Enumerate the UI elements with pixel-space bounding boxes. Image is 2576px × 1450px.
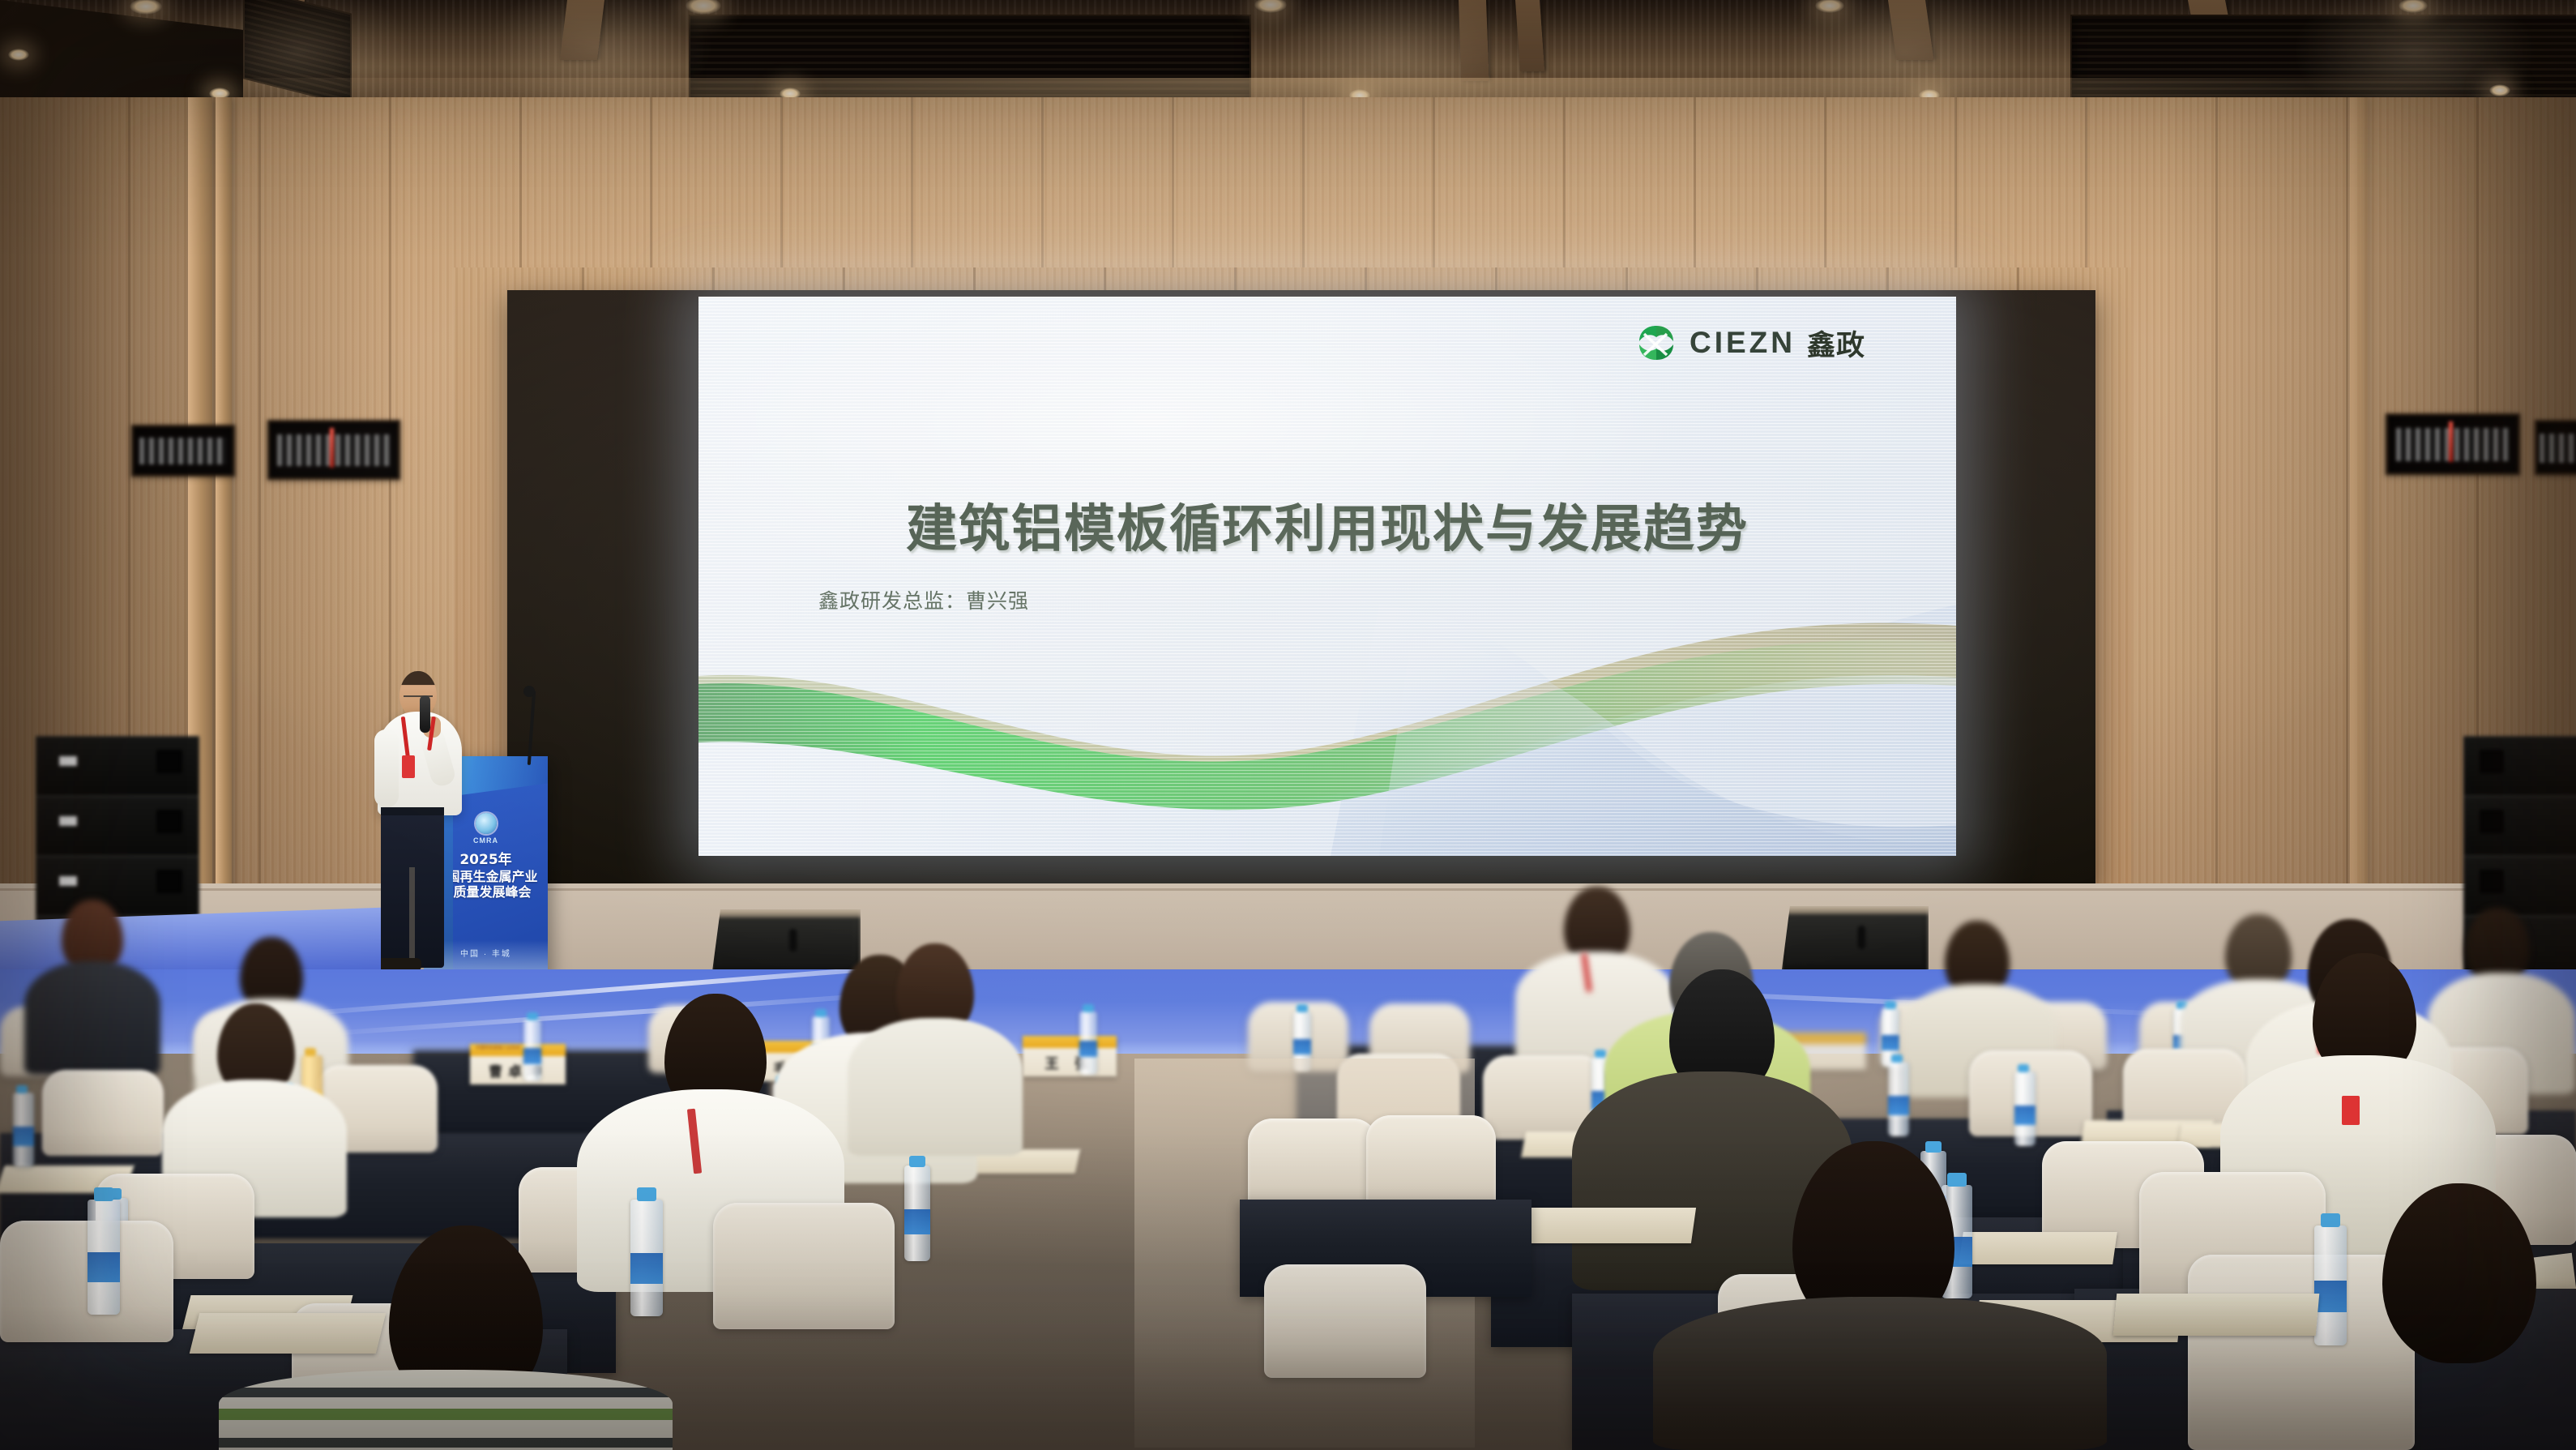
bottle-label: [2014, 1106, 2036, 1125]
audience-torso-foreground-left: [219, 1370, 673, 1450]
presenter-left-arm: [374, 729, 399, 807]
monitor-handle-slot: [789, 929, 797, 952]
line-array-module: [2463, 856, 2576, 916]
bottle-cap: [1297, 1004, 1308, 1012]
speaker-brand-label: [59, 876, 77, 886]
audience-chair: [1366, 1115, 1496, 1211]
name-card-name: 王 强: [1023, 1048, 1117, 1076]
notepad: [190, 1313, 386, 1354]
slide-wave-graphic: [698, 588, 1956, 856]
logo-latin-text: CIEZN: [1690, 326, 1796, 360]
name-card-header-bar: [1023, 1036, 1117, 1048]
line-array-module: [36, 856, 199, 916]
presenter-belt: [381, 807, 444, 815]
ceiling-beam: [1515, 0, 1544, 71]
audience-torso: [24, 961, 160, 1075]
wall-pilaster: [2350, 97, 2368, 965]
slide-brand-logo: CIEZN 鑫政: [1634, 321, 1865, 365]
bottle-cap: [815, 1009, 827, 1017]
podium-microphone-head-icon: [523, 686, 535, 697]
speaker-brand-label: [59, 816, 77, 826]
slide-subtitle: 鑫政研发总监：曹兴强: [818, 585, 1029, 614]
bottle-cap: [1595, 1050, 1606, 1058]
bottle-cap: [16, 1085, 28, 1093]
monitor-grille: [1787, 916, 1922, 965]
logo-chinese-text: 鑫政: [1807, 323, 1865, 364]
slide-title: 建筑铝模板循环利用现状与发展趋势: [698, 488, 1956, 562]
niche-red-accent: [330, 428, 334, 468]
bottle-cap: [1885, 1001, 1896, 1009]
audience-chair: [42, 1070, 164, 1156]
speaker-brand-label: [59, 756, 77, 766]
ciezn-logo-mark-icon: [1634, 321, 1678, 365]
speaker-port: [156, 750, 182, 773]
monitor-grille: [717, 919, 854, 967]
water-bottle: [1079, 1012, 1097, 1075]
speaker-port: [2480, 870, 2504, 893]
wall-niche-left-inner: [131, 425, 235, 477]
notepad: [1521, 1208, 1696, 1243]
speaker-port: [156, 810, 182, 833]
water-bottle: [523, 1020, 541, 1081]
speaker-port: [156, 870, 182, 893]
audience-chair: [1248, 1119, 1378, 1213]
water-bottle: [630, 1200, 663, 1316]
presentation-screen: CIEZN 鑫政 建筑铝模板循环利用现状与发展趋势 鑫政研发总监：曹兴强: [698, 297, 1956, 856]
stage-monitor-right: [1781, 906, 1929, 976]
ceiling-downlight: [8, 49, 29, 61]
bottle-label: [1079, 1041, 1097, 1057]
speaker-port: [2480, 810, 2504, 833]
notepad: [1959, 1232, 2117, 1264]
bottle-cap: [637, 1187, 656, 1201]
audience-chair: [0, 1221, 173, 1342]
bottle-label: [13, 1127, 34, 1146]
bottle-cap: [2321, 1213, 2340, 1227]
niche-slats: [139, 438, 226, 465]
bottle-cap: [1083, 1004, 1094, 1012]
bottle-label: [904, 1209, 930, 1234]
water-bottle: [13, 1093, 34, 1167]
notepad: [2113, 1294, 2320, 1336]
conference-hall-photo: CIEZN 鑫政 建筑铝模板循环利用现状与发展趋势 鑫政研发总监：曹兴强 CMR…: [0, 0, 2576, 1450]
audience-badge: [2342, 1096, 2360, 1125]
bottle-label: [1888, 1096, 1909, 1115]
name-card: 中国有色金属工业协会 曹卓坤: [470, 1044, 566, 1084]
name-card-header-bar: 中国有色金属工业协会: [470, 1044, 566, 1056]
wall-niche-right: [2386, 413, 2520, 475]
bottle-cap: [1891, 1054, 1903, 1063]
audience-torso-foreground-right: [1653, 1297, 2107, 1450]
line-array-module: [36, 736, 199, 796]
bottle-cap: [305, 1048, 316, 1056]
bottle-cap: [527, 1012, 538, 1020]
speaker-port: [2480, 750, 2504, 773]
audience-chair: [2188, 1255, 2415, 1450]
ceiling-downlight: [2489, 84, 2510, 96]
water-bottle: [2014, 1071, 2036, 1146]
line-array-module: [2463, 736, 2576, 796]
name-card-name: 曹卓坤: [470, 1056, 566, 1084]
wall-pilaster: [216, 97, 232, 965]
monitor-top-band: [711, 909, 861, 917]
presenter-head: [399, 671, 437, 716]
monitor-handle-slot: [1858, 926, 1865, 949]
presenter-microphone: [420, 695, 430, 733]
bottle-label: [1882, 1035, 1899, 1050]
line-array-module: [36, 796, 199, 856]
bottle-label: [88, 1252, 120, 1282]
bottle-label: [2314, 1281, 2347, 1311]
niche-slats: [2540, 434, 2576, 463]
bottle-label: [630, 1253, 663, 1283]
line-array-module: [2463, 796, 2576, 856]
audience-head-foreground-far-right: [2382, 1183, 2536, 1363]
bottle-label: [1293, 1039, 1311, 1054]
stage-monitor-left: [711, 909, 861, 977]
bottle-cap: [94, 1187, 113, 1201]
bottle-cap: [1947, 1173, 1967, 1187]
presenter-badge: [402, 755, 415, 778]
stage-fascia-light-streak: [308, 990, 923, 1037]
water-bottle: [2314, 1225, 2347, 1345]
cmra-logo-icon: [476, 813, 497, 834]
bottle-cap: [909, 1156, 925, 1167]
monitor-top-band: [1781, 906, 1929, 914]
wall-niche-left: [267, 420, 400, 480]
bottle-cap: [2018, 1064, 2029, 1072]
niche-red-accent: [2449, 421, 2453, 462]
audience-torso: [848, 1018, 1023, 1156]
bottle-label: [523, 1048, 541, 1064]
water-bottle: [904, 1166, 930, 1261]
wall-niche-right-inner: [2535, 420, 2576, 475]
audience-chair: [1264, 1264, 1426, 1378]
water-bottle: [88, 1200, 120, 1315]
name-card-org: 中国有色金属工业协会: [476, 1045, 520, 1050]
audience-chair: [713, 1203, 895, 1329]
water-bottle: [1888, 1062, 1909, 1136]
presenter-leg-gap: [409, 867, 415, 965]
bottle-cap: [1925, 1141, 1942, 1153]
name-card: 王 强: [1023, 1036, 1117, 1076]
